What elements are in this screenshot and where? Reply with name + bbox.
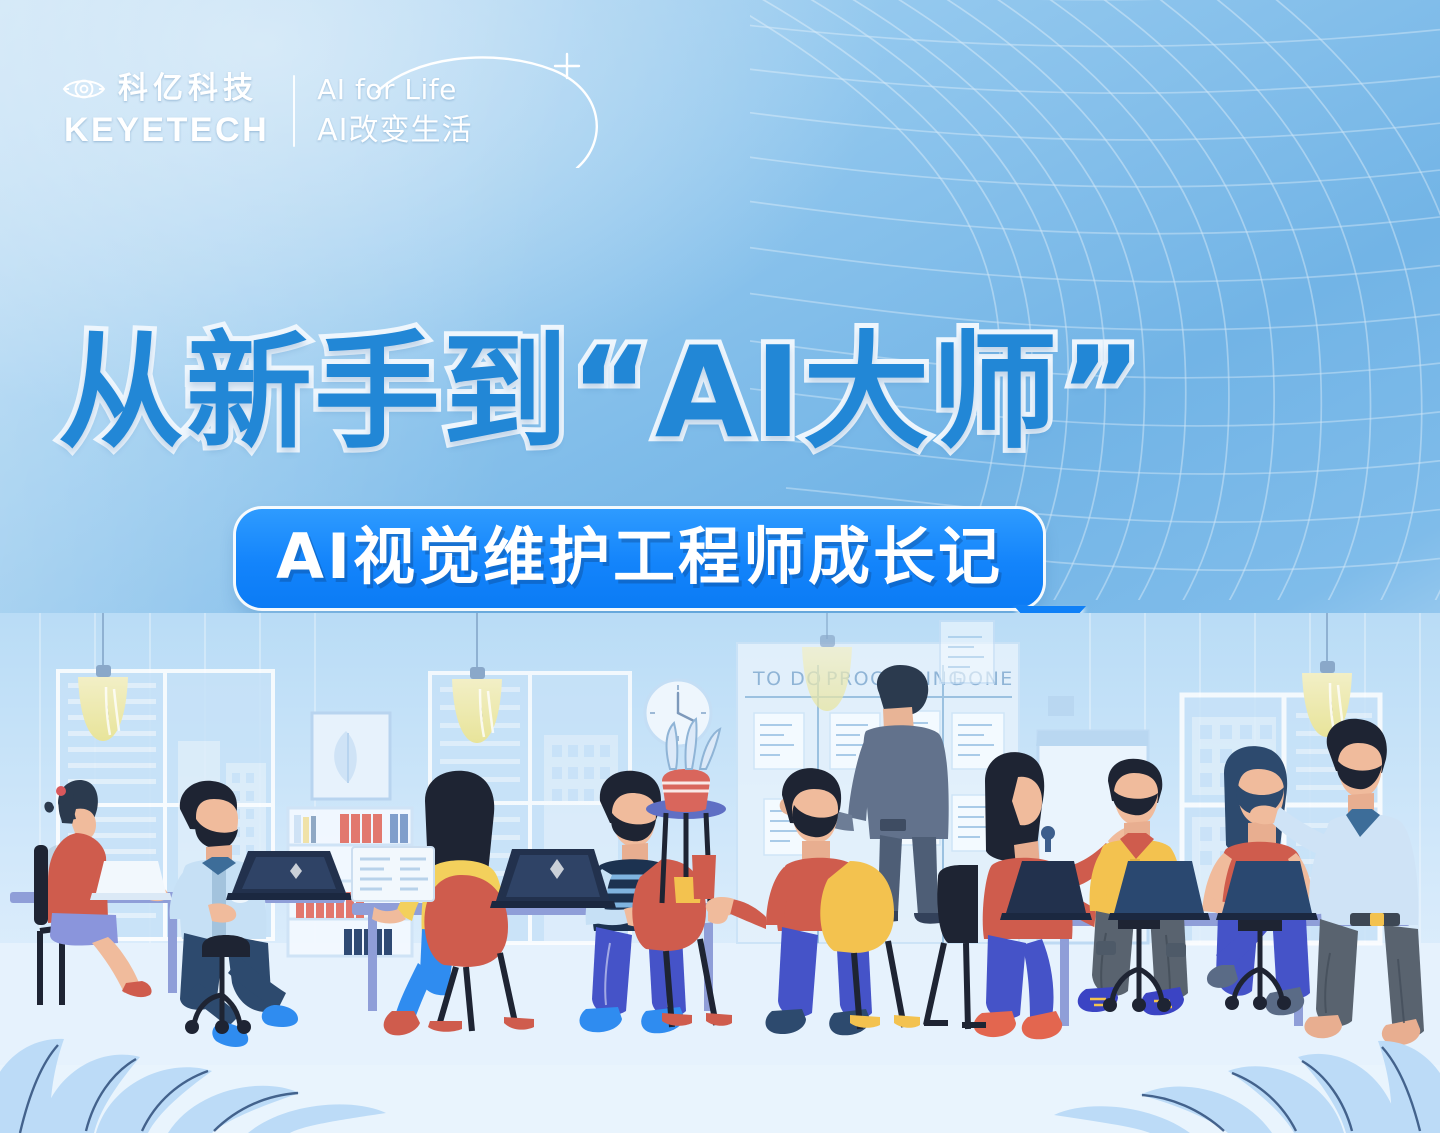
monitor [352, 847, 434, 901]
eye-icon [62, 74, 106, 104]
office-illustration: TO DO PROCESSING DONE [0, 613, 1440, 1133]
brand-logo: 科亿科技 KEYETECH AI for Life AI改变生活 [62, 74, 473, 147]
poster-canvas: 科亿科技 KEYETECH AI for Life AI改变生活 从新手到“AI… [0, 0, 1440, 1133]
logo-divider [293, 75, 295, 147]
brand-slogan-en: AI for Life [317, 76, 472, 104]
subtitle-banner: AI视觉维护工程师成长记 [236, 509, 1043, 608]
hero-subtitle: AI视觉维护工程师成长记 [276, 524, 1003, 591]
brand-name-en: KEYETECH [64, 113, 269, 147]
subtitle-banner-wrapper: AI视觉维护工程师成长记 [236, 509, 1043, 608]
logo-slogan-group: AI for Life AI改变生活 [317, 76, 472, 146]
brand-name-cn: 科亿科技 [118, 74, 258, 104]
brand-slogan-cn: AI改变生活 [317, 116, 472, 146]
logo-left-group: 科亿科技 KEYETECH [62, 74, 269, 147]
hero-title: 从新手到“AI大师” [58, 330, 1398, 456]
wall-clock-icon [645, 680, 711, 746]
red-cup [692, 855, 716, 899]
